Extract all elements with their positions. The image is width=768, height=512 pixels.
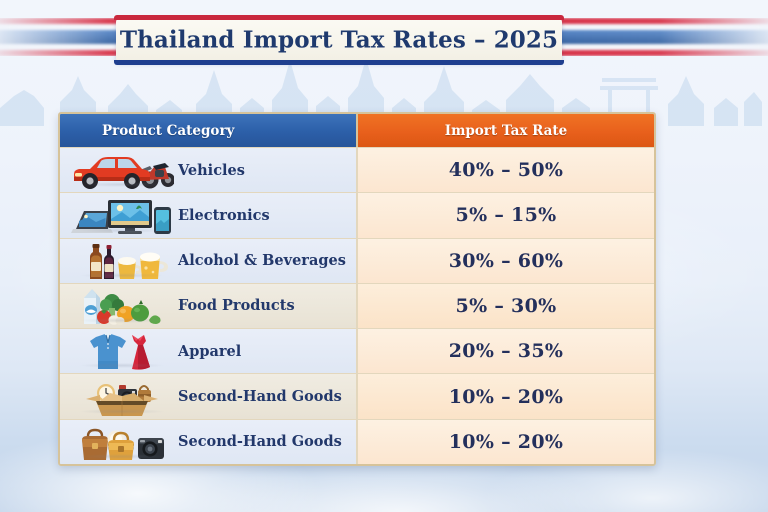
category-label: Food Products	[178, 297, 295, 314]
table-header-row: Product Category Import Tax Rate	[60, 114, 654, 147]
table-row: Alcohol & Beverages 30% – 60%	[60, 238, 654, 283]
category-label: Apparel	[178, 343, 241, 360]
cell-import-tax-rate: 40% – 50%	[358, 148, 654, 192]
car-motorcycle-icon	[66, 148, 178, 192]
table-row: Food Products 5% – 30%	[60, 283, 654, 328]
column-header-import-tax-rate: Import Tax Rate	[358, 114, 654, 147]
cell-product-category: Food Products	[60, 284, 358, 328]
cell-import-tax-rate: 10% – 20%	[358, 374, 654, 418]
cell-import-tax-rate: 20% – 35%	[358, 329, 654, 373]
cell-product-category: Second-Hand Goods	[60, 420, 358, 464]
infographic-page: Thailand Import Tax Rates – 2025 Product…	[0, 0, 768, 512]
category-label: Second-Hand Goods	[178, 388, 342, 405]
table-row: Electronics 5% – 15%	[60, 192, 654, 237]
category-label: Vehicles	[178, 162, 245, 179]
cell-import-tax-rate: 30% – 60%	[358, 239, 654, 283]
ribbon-tail-right	[556, 18, 768, 56]
table-row: Second-Hand Goods 10% – 20%	[60, 373, 654, 418]
cell-product-category: Alcohol & Beverages	[60, 239, 358, 283]
table-row: Vehicles 40% – 50%	[60, 147, 654, 192]
table-row: Second-Hand Goods 10% – 20%	[60, 419, 654, 464]
apparel-icon	[66, 329, 178, 373]
cell-import-tax-rate: 10% – 20%	[358, 420, 654, 464]
cell-import-tax-rate: 5% – 15%	[358, 193, 654, 237]
cell-product-category: Second-Hand Goods	[60, 374, 358, 418]
second-hand-box-icon	[66, 374, 178, 418]
cell-product-category: Electronics	[60, 193, 358, 237]
category-label: Electronics	[178, 207, 270, 224]
cell-product-category: Vehicles	[60, 148, 358, 192]
title-ribbon: Thailand Import Tax Rates – 2025	[0, 8, 768, 66]
page-title: Thailand Import Tax Rates – 2025	[116, 27, 562, 54]
category-label: Second-Hand Goods	[178, 433, 342, 450]
title-banner: Thailand Import Tax Rates – 2025	[116, 18, 562, 62]
category-label: Alcohol & Beverages	[178, 252, 346, 269]
cell-product-category: Apparel	[60, 329, 358, 373]
column-header-product-category: Product Category	[60, 114, 358, 147]
food-products-icon	[66, 284, 178, 328]
import-tax-table: Product Category Import Tax Rate	[58, 112, 656, 466]
cell-import-tax-rate: 5% – 30%	[358, 284, 654, 328]
alcohol-beverages-icon	[66, 239, 178, 283]
table-row: Apparel 20% – 35%	[60, 328, 654, 373]
second-hand-bag-icon	[66, 420, 178, 464]
electronics-icon	[66, 193, 178, 237]
